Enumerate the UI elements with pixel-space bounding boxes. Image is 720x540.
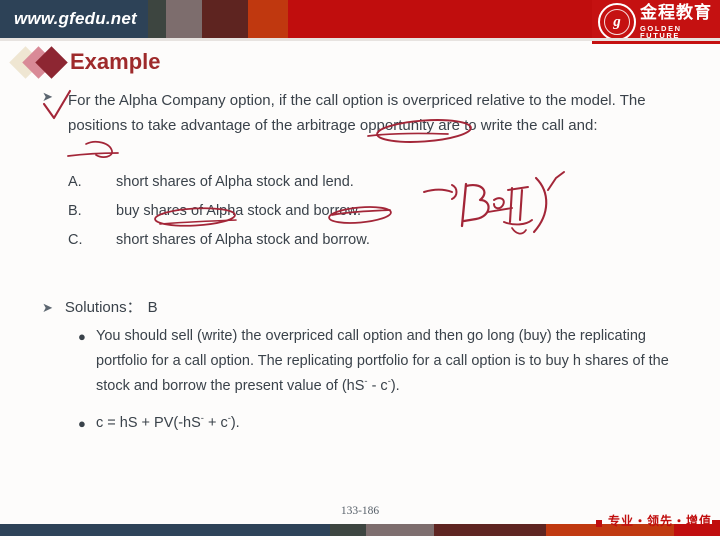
banner-block-orange: [248, 0, 288, 38]
footer-block-maroon: [434, 524, 546, 536]
seal-letter: g: [613, 15, 621, 30]
page-title: Example: [70, 49, 161, 75]
question-bullet-icon: ➤: [42, 90, 53, 103]
explanation-list: ● You should sell (write) the overpriced…: [78, 324, 678, 444]
footer-tagline: 专业・领先・增值: [608, 512, 712, 529]
option-a-label: A.: [68, 168, 116, 197]
expl2-part-b: + c: [204, 415, 228, 431]
option-c[interactable]: C. short shares of Alpha stock and borro…: [68, 226, 488, 255]
solution-bullet-icon: ➤: [42, 300, 53, 316]
solution-row: ➤ Solutions： B: [42, 296, 158, 317]
ink-annotation-layer: [0, 0, 720, 540]
solution-answer: B: [148, 299, 158, 316]
check-mark-icon-right: [548, 172, 564, 190]
option-b[interactable]: B. buy shares of Alpha stock and borrow.: [68, 197, 488, 226]
handwrite-scrawl-3: [510, 188, 512, 222]
expl2-part-c: ).: [231, 415, 240, 431]
option-a[interactable]: A. short shares of Alpha stock and lend.: [68, 168, 488, 197]
footer-block-dark: [330, 524, 366, 536]
tagline-tick-right: [712, 520, 720, 527]
handwrite-paren: [534, 178, 546, 232]
expl1-part-b: - c: [368, 378, 388, 394]
banner-block-dark: [148, 0, 166, 38]
banner-block-maroon: [202, 0, 248, 38]
handwrite-scrawl-1: [494, 198, 504, 208]
slide: www.gfedu.net g 金程教育 GOLDEN FUTURE Examp…: [0, 0, 720, 540]
seal-icon: g: [598, 3, 636, 41]
bullet-dot-icon: ●: [78, 324, 96, 399]
handwrite-scrawl-5: [508, 187, 528, 190]
option-b-text: buy shares of Alpha stock and borrow.: [116, 197, 488, 226]
question-text: For the Alpha Company option, if the cal…: [68, 88, 668, 138]
expl1-part-c: ).: [391, 378, 400, 394]
slide-title-row: Example: [14, 44, 161, 80]
explanation-item-1: ● You should sell (write) the overpriced…: [78, 324, 678, 399]
footer-block-gray: [366, 524, 434, 536]
explanation-item-2: ● c = hS + PV(-hS- + c-).: [78, 411, 678, 436]
option-b-label: B.: [68, 197, 116, 226]
handwrite-scrawl-6: [504, 220, 532, 224]
brand-text: 金程教育 GOLDEN FUTURE: [640, 5, 720, 40]
diamond-bullet-icon: [14, 45, 72, 79]
option-c-label: C.: [68, 226, 116, 255]
handwrite-scrawl-7: [512, 228, 526, 234]
banner-block-gray: [166, 0, 202, 38]
explanation-text-2: c = hS + PV(-hS- + c-).: [96, 411, 678, 436]
site-url: www.gfedu.net: [0, 0, 148, 38]
option-a-text: short shares of Alpha stock and lend.: [116, 168, 488, 197]
loop-the-call: [86, 142, 112, 157]
solution-label: Solutions：: [65, 296, 142, 317]
footer-block-slate: [0, 524, 330, 536]
bullet-dot-icon-2: ●: [78, 411, 96, 436]
answer-options: A. short shares of Alpha stock and lend.…: [68, 168, 488, 255]
strikethrough-the-call: [68, 153, 118, 156]
handwrite-scrawl-4: [520, 190, 522, 220]
explanation-text-1: You should sell (write) the overpriced c…: [96, 324, 678, 399]
option-c-text: short shares of Alpha stock and borrow.: [116, 226, 488, 255]
tagline-tick-left: [596, 520, 602, 527]
handwrite-scrawl-2: [488, 208, 512, 212]
expl2-part-a: c = hS + PV(-hS: [96, 415, 201, 431]
brand-name-cn: 金程教育: [640, 5, 720, 22]
header-divider: [0, 38, 720, 41]
